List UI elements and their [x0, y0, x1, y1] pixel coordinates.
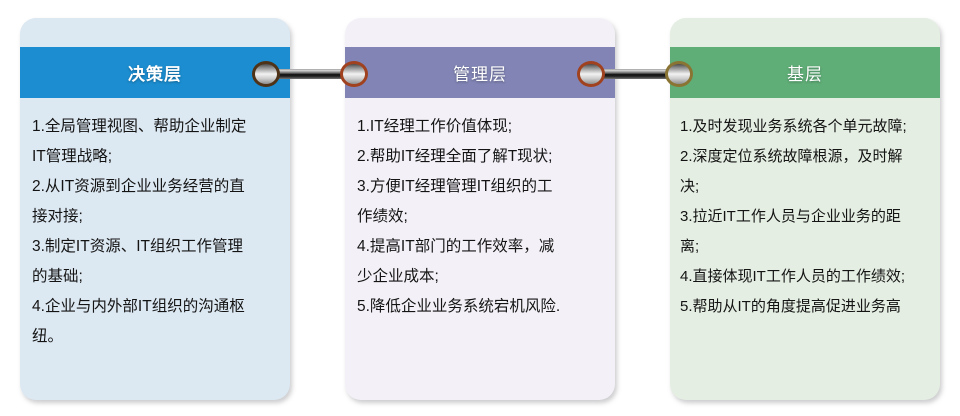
- body-line: 纽。: [32, 322, 282, 352]
- panel-title-management-layer: 管理层: [453, 60, 507, 85]
- body-line: 作绩效;: [357, 202, 607, 232]
- panel-body-management-layer: 1.IT经理工作价值体现; 2.帮助IT经理全面了解T现状; 3.方便IT经理管…: [345, 98, 615, 332]
- panel-header-base-layer: 基层: [670, 47, 940, 98]
- panel-base-layer[interactable]: 基层 1.及时发现业务系统各个单元故障; 2.深度定位系统故障根源，及时解 决;…: [670, 18, 940, 400]
- connector-eyelet-left: [577, 61, 605, 87]
- connector-eyelet-right: [340, 61, 368, 87]
- body-line: 4.企业与内外部IT组织的沟通枢: [32, 292, 282, 322]
- connector-eyelet-left: [252, 61, 280, 87]
- body-line: 的基础;: [32, 262, 282, 292]
- panel-management-layer[interactable]: 管理层 1.IT经理工作价值体现; 2.帮助IT经理全面了解T现状; 3.方便I…: [345, 18, 615, 400]
- body-line: 1.及时发现业务系统各个单元故障;: [680, 112, 936, 142]
- panel-decision-layer[interactable]: 决策层 1.全局管理视图、帮助企业制定 IT管理战略; 2.从IT资源到企业业务…: [20, 18, 290, 400]
- body-line: 2.帮助IT经理全面了解T现状;: [357, 142, 607, 172]
- body-line: 2.深度定位系统故障根源，及时解: [680, 142, 936, 172]
- panel-title-base-layer: 基层: [787, 60, 823, 85]
- body-line: 5.帮助从IT的角度提高促进业务高: [680, 292, 936, 322]
- panel-body-base-layer: 1.及时发现业务系统各个单元故障; 2.深度定位系统故障根源，及时解 决; 3.…: [670, 98, 940, 332]
- body-line: 4.直接体现IT工作人员的工作绩效;: [680, 262, 936, 292]
- panel-header-decision-layer: 决策层: [20, 47, 290, 98]
- dumbbell-link-icon-decision-management: [252, 61, 368, 87]
- panel-title-decision-layer: 决策层: [128, 60, 182, 85]
- panel-header-management-layer: 管理层: [345, 47, 615, 98]
- body-line: 1.全局管理视图、帮助企业制定: [32, 112, 282, 142]
- body-line: 2.从IT资源到企业业务经营的直: [32, 172, 282, 202]
- body-line: 3.拉近IT工作人员与企业业务的距: [680, 202, 936, 232]
- body-line: 3.制定IT资源、IT组织工作管理: [32, 232, 282, 262]
- body-line: 离;: [680, 232, 936, 262]
- body-line: 3.方便IT经理管理IT组织的工: [357, 172, 607, 202]
- panel-body-decision-layer: 1.全局管理视图、帮助企业制定 IT管理战略; 2.从IT资源到企业业务经营的直…: [20, 98, 290, 362]
- dumbbell-link-icon-management-base: [577, 61, 693, 87]
- body-line: 4.提高IT部门的工作效率，减: [357, 232, 607, 262]
- body-line: 少企业成本;: [357, 262, 607, 292]
- body-line: IT管理战略;: [32, 142, 282, 172]
- connector-eyelet-right: [665, 61, 693, 87]
- body-line: 5.降低企业业务系统宕机风险.: [357, 292, 607, 322]
- body-line: 决;: [680, 172, 936, 202]
- three-tier-diagram: 决策层 1.全局管理视图、帮助企业制定 IT管理战略; 2.从IT资源到企业业务…: [0, 0, 960, 416]
- body-line: 1.IT经理工作价值体现;: [357, 112, 607, 142]
- body-line: 接对接;: [32, 202, 282, 232]
